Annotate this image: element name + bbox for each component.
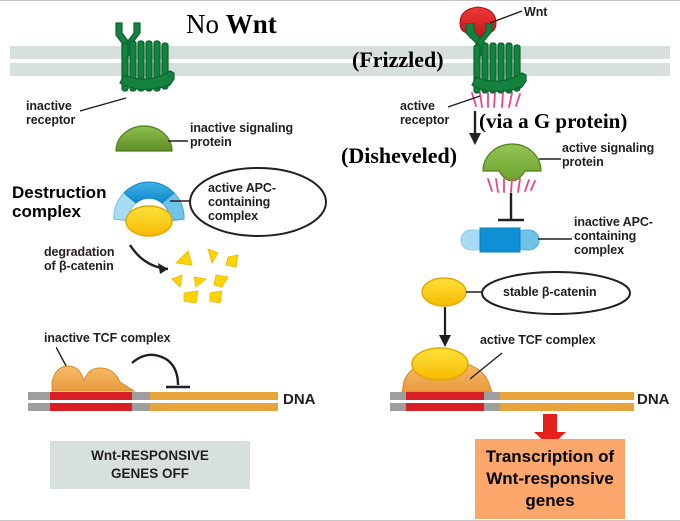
wnt-signaling-figure: No Wnt inactive receptor <box>0 0 680 521</box>
inactive-apc-leader-line <box>538 235 574 243</box>
dna-strand-right <box>390 391 634 413</box>
inactive-apc-complex-icon <box>460 227 540 253</box>
active-signaling-protein-icon <box>481 141 543 181</box>
inactive-receptor-icon <box>96 21 182 93</box>
label-inactive-apc-complex: inactive APC- containing complex <box>574 215 653 257</box>
inhibition-arrow-left <box>130 353 200 395</box>
inhibition-arrow-right <box>494 193 528 227</box>
label-degradation: degradation of β-catenin <box>44 245 114 273</box>
signaling-protein-activation-rays <box>487 177 537 193</box>
inactive-signaling-protein-leader-line <box>168 137 190 145</box>
label-dna-right: DNA <box>637 391 670 408</box>
active-signaling-protein-leader-line <box>539 155 563 163</box>
left-panel-title: No Wnt <box>186 9 277 40</box>
label-active-receptor: active receptor <box>400 99 449 127</box>
wnt-genes-off-box: Wnt-RESPONSIVE GENES OFF <box>50 441 250 489</box>
label-inactive-receptor: inactive receptor <box>26 99 75 127</box>
destruction-complex-icon <box>110 177 188 239</box>
label-active-signaling-protein: active signaling protein <box>562 141 654 169</box>
catenin-to-tcf-arrow <box>436 307 454 349</box>
beta-catenin-fragments <box>170 247 248 303</box>
active-tcf-leader-line <box>470 351 506 381</box>
inactive-tcf-complex-icon <box>50 364 136 392</box>
stable-beta-catenin-icon <box>420 276 468 308</box>
label-disheveled: (Disheveled) <box>341 143 457 169</box>
label-inactive-tcf-complex: inactive TCF complex <box>44 331 171 345</box>
label-wnt: Wnt <box>524 5 547 19</box>
title-prefix: No <box>186 9 226 39</box>
label-destruction-complex: Destruction complex <box>12 183 106 221</box>
label-inactive-signaling-protein: inactive signaling protein <box>190 121 293 149</box>
label-active-apc-complex: active APC- containing complex <box>208 181 276 223</box>
inactive-signaling-protein-icon <box>114 123 174 155</box>
label-active-tcf-complex: active TCF complex <box>480 333 596 347</box>
transcription-box: Transcription of Wnt-responsive genes <box>475 439 625 519</box>
inactive-receptor-leader-line <box>80 97 140 121</box>
label-via-g-protein: (via a G protein) <box>479 109 627 134</box>
title-bold: Wnt <box>226 9 277 39</box>
active-receptor-icon <box>448 23 534 97</box>
label-dna-left: DNA <box>283 391 316 408</box>
active-receptor-leader-line <box>448 95 484 109</box>
label-frizzled: (Frizzled) <box>352 47 444 73</box>
label-stable-beta-catenin: stable β-catenin <box>503 285 597 299</box>
